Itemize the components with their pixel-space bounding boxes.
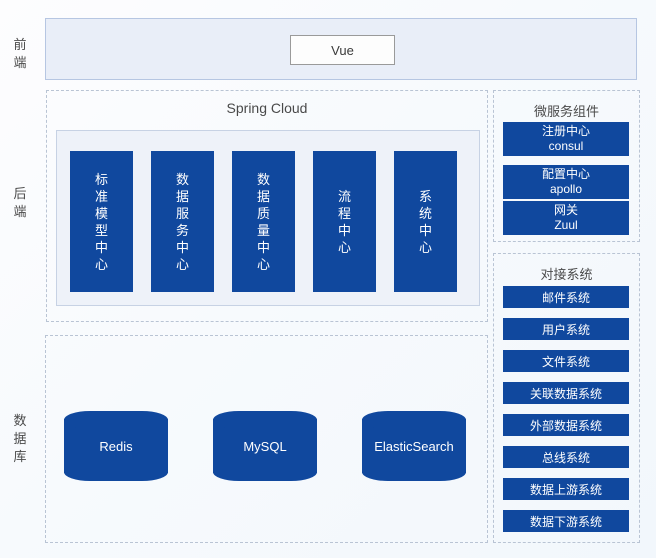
component-line-2: consul bbox=[549, 139, 584, 154]
microservice-component-registry-consul[interactable]: 注册中心 consul bbox=[503, 122, 629, 156]
component-line-2: apollo bbox=[550, 182, 582, 197]
architecture-diagram-canvas: 前 端 后 端 数 据 库 Vue Spring Cloud 标 准 模 型 中… bbox=[0, 0, 656, 558]
component-line-1: 配置中心 bbox=[542, 167, 590, 182]
backend-service-data-service-center[interactable]: 数 据 服 务 中 心 bbox=[151, 151, 214, 292]
microservice-component-config-apollo[interactable]: 配置中心 apollo bbox=[503, 165, 629, 199]
integration-systems-title: 对接系统 bbox=[494, 264, 639, 283]
microservice-components-title: 微服务组件 bbox=[494, 101, 639, 120]
integration-system-email[interactable]: 邮件系统 bbox=[503, 286, 629, 308]
component-line-2: Zuul bbox=[554, 218, 577, 233]
frontend-node-vue[interactable]: Vue bbox=[290, 35, 395, 65]
database-node-mysql[interactable]: MySQL bbox=[213, 411, 317, 481]
backend-service-system-center[interactable]: 系 统 中 心 bbox=[394, 151, 457, 292]
database-node-label: ElasticSearch bbox=[362, 411, 466, 481]
microservice-component-gateway-zuul[interactable]: 网关 Zuul bbox=[503, 201, 629, 235]
integration-system-external-data[interactable]: 外部数据系统 bbox=[503, 414, 629, 436]
database-node-label: Redis bbox=[64, 411, 168, 481]
database-node-elasticsearch[interactable]: ElasticSearch bbox=[362, 411, 466, 481]
row-label-backend: 后 端 bbox=[0, 185, 40, 221]
integration-system-data-downstream[interactable]: 数据下游系统 bbox=[503, 510, 629, 532]
backend-title: Spring Cloud bbox=[46, 100, 488, 116]
integration-system-bus[interactable]: 总线系统 bbox=[503, 446, 629, 468]
row-label-database: 数 据 库 bbox=[0, 412, 40, 466]
backend-service-process-center[interactable]: 流 程 中 心 bbox=[313, 151, 376, 292]
component-line-1: 注册中心 bbox=[542, 124, 590, 139]
backend-service-data-quality-center[interactable]: 数 据 质 量 中 心 bbox=[232, 151, 295, 292]
component-line-1: 网关 bbox=[554, 203, 578, 218]
database-node-label: MySQL bbox=[213, 411, 317, 481]
integration-system-related-data[interactable]: 关联数据系统 bbox=[503, 382, 629, 404]
row-label-frontend: 前 端 bbox=[0, 36, 40, 72]
backend-service-standard-model-center[interactable]: 标 准 模 型 中 心 bbox=[70, 151, 133, 292]
integration-system-user[interactable]: 用户系统 bbox=[503, 318, 629, 340]
integration-system-file[interactable]: 文件系统 bbox=[503, 350, 629, 372]
database-node-redis[interactable]: Redis bbox=[64, 411, 168, 481]
integration-system-data-upstream[interactable]: 数据上游系统 bbox=[503, 478, 629, 500]
